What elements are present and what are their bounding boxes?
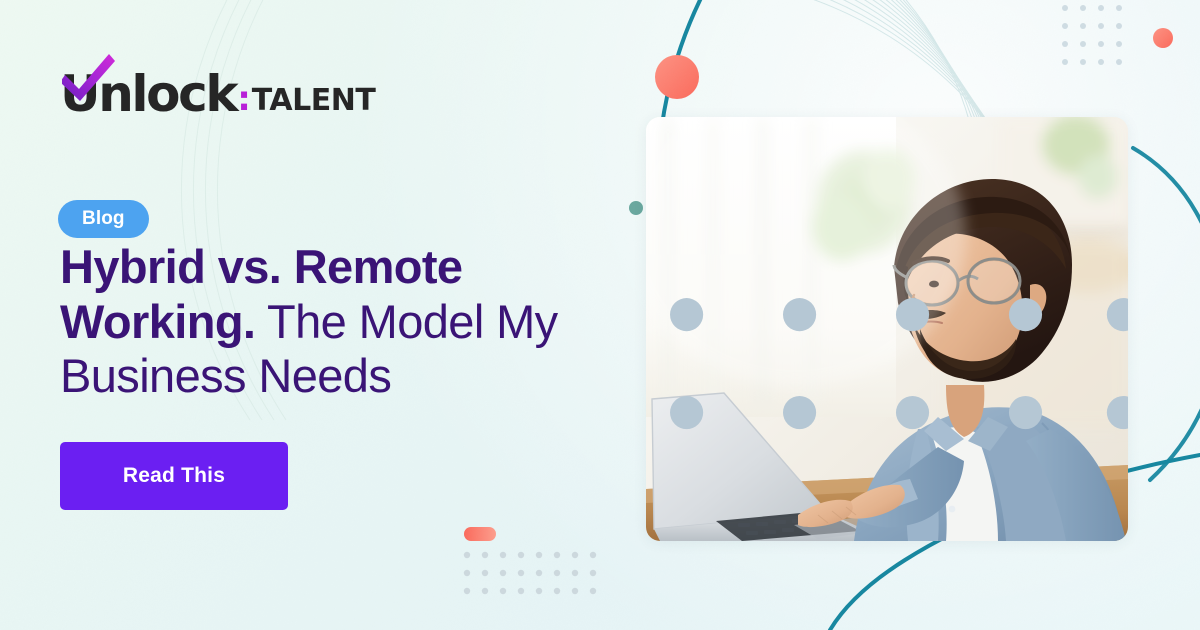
dot-grid-bottom-left bbox=[464, 552, 596, 594]
blog-promo-banner: Unlock : TALENT Blog Hybrid vs. Remote W… bbox=[0, 0, 1200, 630]
brand-logo[interactable]: Unlock : TALENT bbox=[60, 57, 375, 119]
hero-photo-card bbox=[646, 117, 1128, 541]
brand-name-sub: TALENT bbox=[252, 86, 376, 116]
read-this-button[interactable]: Read This bbox=[60, 442, 288, 510]
teal-dot bbox=[629, 201, 643, 215]
page-title: Hybrid vs. Remote Working. The Model My … bbox=[60, 240, 640, 404]
category-badge[interactable]: Blog bbox=[58, 200, 149, 238]
brand-separator: : bbox=[237, 82, 251, 116]
dot-grid-card bbox=[664, 193, 1128, 541]
coral-circle-large bbox=[655, 55, 699, 99]
coral-bar bbox=[464, 527, 496, 541]
checkmark-icon bbox=[62, 49, 116, 109]
coral-dot-small bbox=[1153, 28, 1173, 48]
dot-grid-top-right bbox=[1062, 5, 1122, 65]
